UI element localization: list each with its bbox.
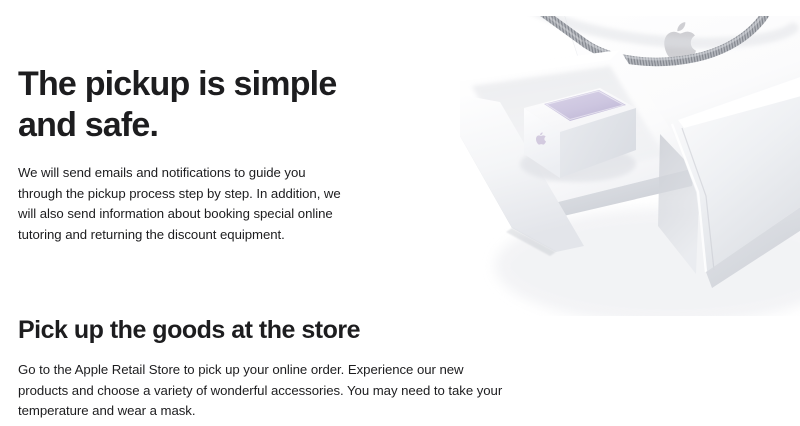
paragraph-pickup-process: We will send emails and notifications to… (18, 163, 348, 245)
paragraph-retail-store-info: Go to the Apple Retail Store to pick up … (18, 360, 504, 422)
headline-pickup-simple-and-safe: The pickup is simple and safe. (18, 64, 358, 146)
headline-pick-up-at-store: Pick up the goods at the store (18, 315, 438, 345)
page-root: The pickup is simple and safe. We will s… (0, 0, 800, 426)
shopping-bag-illustration (460, 16, 800, 316)
product-photo-shopping-bag (460, 16, 800, 316)
